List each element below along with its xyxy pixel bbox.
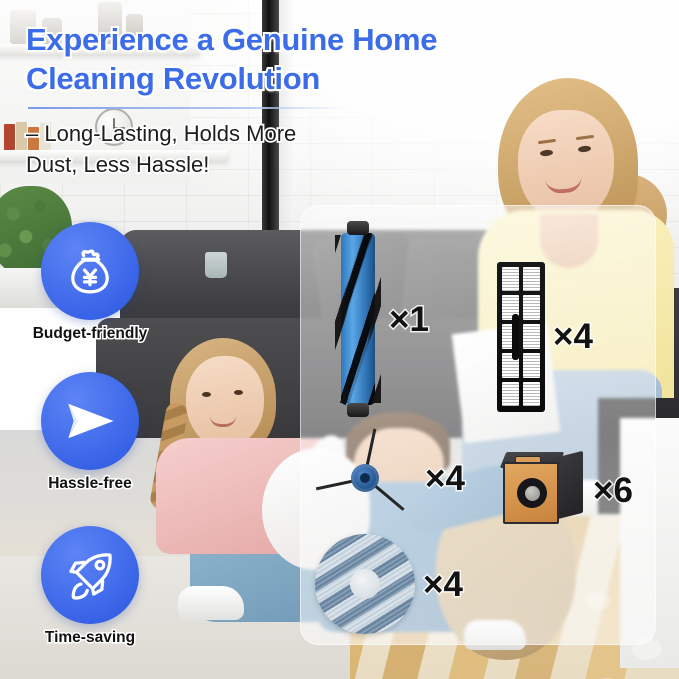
money-bag-icon	[61, 242, 119, 300]
feature-label: Hassle-free	[28, 475, 152, 493]
part-quantity: ×6	[593, 473, 633, 508]
side-brush-hub	[351, 464, 379, 492]
girl-eye	[202, 392, 211, 397]
girl-eye	[234, 390, 243, 395]
filter-cell	[502, 382, 519, 407]
accessory-parts-panel: ×1 ×4	[300, 205, 656, 645]
headline-line-1: Experience a Genuine Home	[26, 20, 546, 59]
filter-handle	[512, 314, 519, 360]
part-roller-brush: ×1	[309, 214, 479, 424]
subtitle: – Long-Lasting, Holds More Dust, Less Ha…	[26, 118, 386, 180]
product-poster: Experience a Genuine Home Cleaning Revol…	[0, 0, 679, 679]
paper-plane-icon	[61, 392, 119, 450]
part-dust-bag: ×6	[487, 434, 657, 546]
filter-cell	[502, 267, 519, 292]
roller-bristles	[335, 235, 381, 403]
page-title: Experience a Genuine Home Cleaning Revol…	[26, 20, 546, 98]
part-quantity: ×4	[553, 319, 593, 354]
feature-label: Time-saving	[28, 629, 152, 647]
filter-cell	[523, 382, 540, 407]
mop-pad-icon	[315, 534, 415, 634]
filter-cell	[523, 267, 540, 292]
subtitle-line-2: Dust, Less Hassle!	[26, 149, 386, 180]
feature-label: Budget-friendly	[28, 325, 152, 343]
roller-brush-icon	[335, 221, 381, 417]
dust-bag-icon	[501, 450, 585, 530]
feature-budget-friendly: Budget-friendly	[28, 222, 152, 343]
part-mop-pad: ×4	[305, 528, 475, 640]
part-hepa-filter: ×4	[487, 244, 657, 429]
feature-hassle-free: Hassle-free	[28, 372, 152, 493]
part-quantity: ×4	[425, 461, 465, 496]
feature-badge	[41, 222, 139, 320]
filter-cell	[523, 324, 540, 349]
part-quantity: ×1	[389, 302, 429, 337]
feature-time-saving: Time-saving	[28, 526, 152, 647]
roller-end-cap	[347, 221, 369, 235]
title-divider	[28, 107, 346, 109]
side-brush-icon	[313, 428, 417, 528]
part-quantity: ×4	[423, 567, 463, 602]
hepa-filter-icon	[497, 262, 545, 412]
subtitle-line-1: – Long-Lasting, Holds More	[26, 118, 386, 149]
rocket-icon	[61, 546, 119, 604]
dust-bag-port	[517, 478, 547, 508]
headline-line-2: Cleaning Revolution	[26, 59, 546, 98]
roller-end-cap	[347, 403, 369, 417]
dust-bag-side	[557, 451, 583, 519]
mug	[205, 252, 227, 278]
filter-cell	[523, 353, 540, 378]
feature-badge	[41, 526, 139, 624]
mop-texture	[315, 534, 415, 634]
book	[4, 124, 15, 150]
feature-badge	[41, 372, 139, 470]
part-side-brush: ×4	[305, 422, 475, 534]
girl-sneaker	[178, 586, 244, 620]
filter-cell	[523, 295, 540, 320]
girl-face	[186, 356, 264, 448]
